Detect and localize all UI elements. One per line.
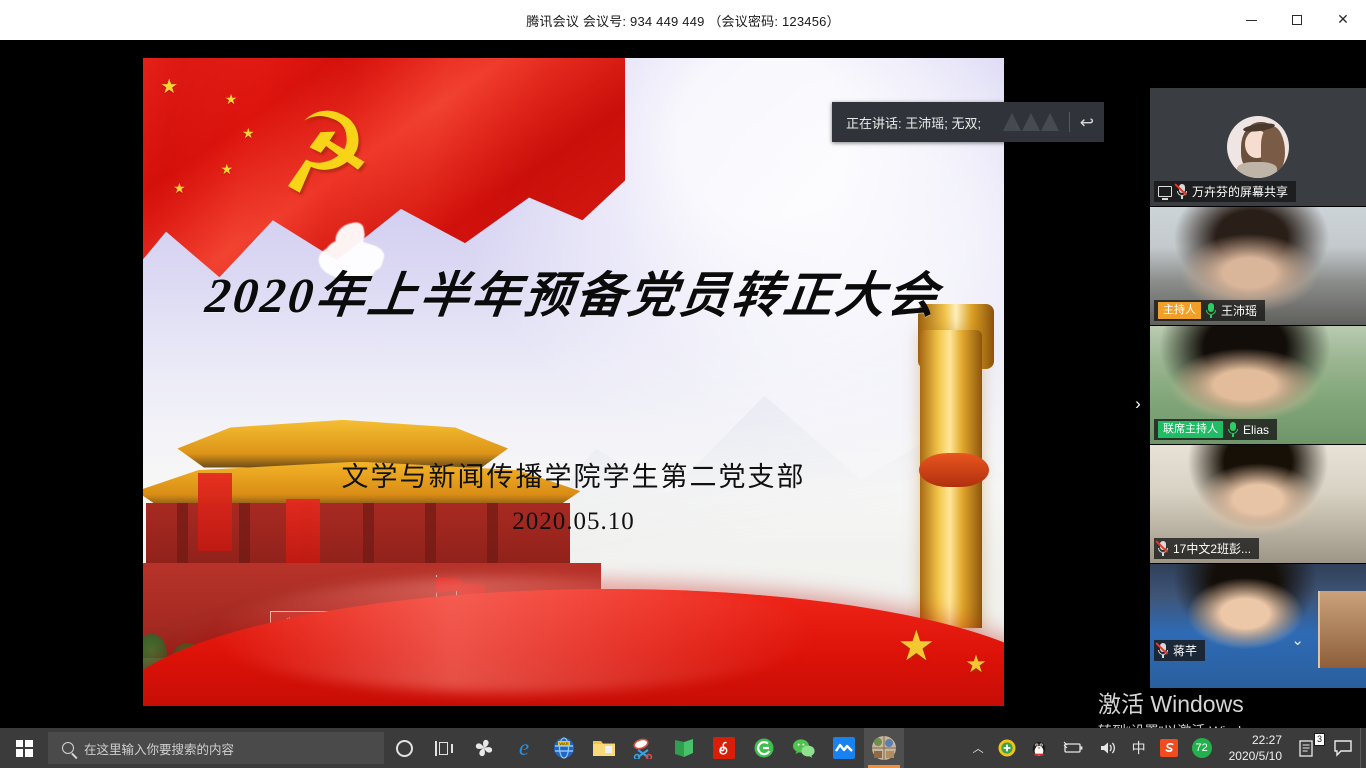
host-badge: 主持人 [1158,302,1201,319]
return-icon[interactable]: ↩ [1080,114,1094,131]
wechat-icon [792,737,816,759]
window-controls: ✕ [1228,0,1366,40]
gold-star-small: ★ [965,653,987,677]
tray-qq[interactable] [1023,728,1055,768]
collapse-panel-button[interactable]: › [1128,375,1148,433]
participant-label: 17中文2班彭... [1154,538,1259,559]
mic-on-icon [1228,422,1238,437]
active-window-icon [871,735,897,761]
tray-expand-button[interactable]: ︿ [966,728,991,768]
internet-explorer-icon: e [519,735,529,761]
participant-tile[interactable]: 蒋芊 ⌄ [1150,564,1366,688]
participant-label: 万卉芬的屏幕共享 [1154,181,1296,202]
meeting-title: 腾讯会议 会议号: 934 449 449 （会议密码: 123456） [526,11,840,30]
gold-star-large: ★ [897,625,935,667]
tray-volume[interactable] [1091,728,1125,768]
tencent-meeting-icon [833,737,855,759]
windows-taskbar: 在这里输入你要搜索的内容 e WAR ︿ [0,728,1366,768]
participant-name: Elias [1243,423,1269,437]
360-browser-icon [753,737,775,759]
chevron-right-icon: › [1135,394,1141,414]
maximize-button[interactable] [1274,0,1320,40]
taskbar-app-snipping-tool[interactable] [624,728,664,768]
task-view-button[interactable] [424,728,464,768]
tray-counter[interactable]: 72 [1185,728,1219,768]
speaking-indicator[interactable]: 正在讲话: 王沛瑶; 无双; ↩ [832,102,1104,142]
tray-sogou-input[interactable] [1153,728,1185,768]
slide-title: 2020年上半年预备党员转正大会 [143,256,1004,327]
tray-ime-indicator[interactable]: 中 [1125,728,1153,768]
shield-icon [998,739,1016,757]
taskbar-app-active-window[interactable] [864,728,904,768]
participant-name: 17中文2班彭... [1173,540,1251,557]
participant-tile[interactable]: 联席主持人 Elias [1150,326,1366,444]
system-tray: ︿ 中 72 22:27 2020/5/10 3 [966,728,1366,768]
participant-rail: 万卉芬的屏幕共享 主持人 王沛瑶 联席主持人 Elias [1150,88,1366,728]
search-icon [62,742,74,754]
folder-icon [592,738,616,758]
speaking-text: 正在讲话: 王沛瑶; 无双; [846,113,993,132]
flag-star-large: ★ [160,77,178,97]
avatar [1227,116,1289,178]
participant-name: 王沛瑶 [1221,302,1257,319]
taskbar-app-netease-music[interactable] [704,728,744,768]
clock-time: 22:27 [1252,732,1282,748]
svg-text:WAR: WAR [559,741,568,746]
participant-label: 主持人 王沛瑶 [1154,300,1265,321]
avatar-body [1237,162,1277,178]
taskbar-app-office-book[interactable] [664,728,704,768]
mic-muted-icon [1158,541,1168,556]
battery-icon [1062,741,1084,755]
flag-star-small: ★ [225,92,238,106]
mic-muted-icon [1177,184,1187,199]
cortana-button[interactable] [384,728,424,768]
cortana-icon [396,740,413,757]
flag-star-small: ★ [242,126,255,140]
hammer-sickle-icon: ☭ [271,90,415,221]
close-button[interactable]: ✕ [1320,0,1366,40]
taskbar-app-internet-explorer[interactable]: e [504,728,544,768]
speaker-icon [1098,740,1118,756]
book-icon [673,737,695,759]
shared-screen-content[interactable]: ★ ★ ★ ★ ★ ☭ 中华人民共和国万岁 世界人民大团结万岁 [143,58,1004,706]
minimize-icon [1246,20,1257,21]
search-placeholder: 在这里输入你要搜索的内容 [84,739,234,758]
tray-360-safe[interactable] [991,728,1023,768]
task-view-icon [435,741,454,756]
notification-icon [1333,739,1353,757]
participant-label: 联席主持人 Elias [1154,419,1277,440]
participant-tile[interactable]: 17中文2班彭... [1150,445,1366,563]
clock-date: 2020/5/10 [1229,748,1282,764]
globe-icon: WAR [553,737,575,759]
window-title-bar: 腾讯会议 会议号: 934 449 449 （会议密码: 123456） ✕ [0,0,1366,40]
pinwheel-icon [473,737,495,759]
participant-video [1150,564,1366,688]
flag-star-small: ★ [220,162,233,176]
divider [1069,112,1070,132]
tray-taskbar-overflow[interactable]: 3 [1292,728,1326,768]
slide-date: 2020.05.10 [143,508,1004,536]
chevron-down-icon[interactable]: ⌄ [1291,633,1304,648]
notification-count: 3 [1314,733,1325,746]
windows-logo-icon [16,740,33,757]
taskbar-app-wechat[interactable] [784,728,824,768]
taskbar-app-tencent-meeting[interactable] [824,728,864,768]
counter-badge: 72 [1192,738,1212,758]
maximize-icon [1292,15,1302,25]
tray-battery[interactable] [1055,728,1091,768]
scissors-icon [632,737,656,759]
participant-name: 蒋芊 [1173,642,1197,659]
show-desktop-button[interactable] [1360,728,1366,768]
mic-muted-icon [1158,643,1168,658]
qq-penguin-icon [1030,739,1048,757]
action-center-button[interactable] [1326,728,1360,768]
chevron-up-icon: ︿ [973,740,984,756]
slide-subtitle: 文学与新闻传播学院学生第二党支部 [143,455,1004,494]
mic-on-icon [1206,303,1216,318]
start-button[interactable] [0,728,48,768]
close-icon: ✕ [1337,13,1349,27]
participant-tile[interactable]: 主持人 王沛瑶 [1150,207,1366,325]
taskbar-app-file-explorer[interactable] [584,728,624,768]
taskbar-app-360-browser[interactable] [744,728,784,768]
taskbar-app-globe-game[interactable]: WAR [544,728,584,768]
cohost-badge: 联席主持人 [1158,421,1223,438]
music-icon [713,737,735,759]
meeting-stage: ★ ★ ★ ★ ★ ☭ 中华人民共和国万岁 世界人民大团结万岁 [0,40,1366,728]
participant-name: 万卉芬的屏幕共享 [1192,183,1288,200]
clock[interactable]: 22:27 2020/5/10 [1219,728,1292,768]
minimize-button[interactable] [1228,0,1274,40]
participant-tile[interactable]: 万卉芬的屏幕共享 [1150,88,1366,206]
taskbar-app-pinwheel[interactable] [464,728,504,768]
search-input[interactable]: 在这里输入你要搜索的内容 [48,732,384,764]
red-silk-highlight [212,576,815,693]
sogou-icon [1160,739,1178,757]
screen-share-icon [1158,186,1172,197]
participant-label: 蒋芊 [1154,640,1205,661]
flag-star-small: ★ [173,181,186,195]
audio-wave-icon [1003,113,1059,131]
